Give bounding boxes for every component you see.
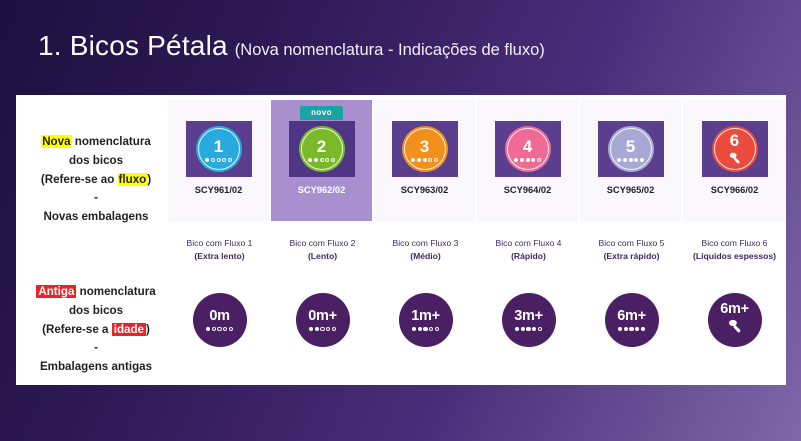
age-label: 6m+ <box>617 309 646 324</box>
product-card-1[interactable]: 1SCY961/02 <box>168 100 271 221</box>
dot-filled <box>618 327 622 331</box>
age-label: 0m+ <box>308 309 337 324</box>
dot-filled <box>629 327 633 331</box>
old-label-line2: dos bicos <box>69 304 123 317</box>
dot-filled <box>531 158 535 162</box>
dot-filled <box>635 327 639 331</box>
flow-description-1: Bico com Fluxo 1(Extra lento) <box>168 237 271 273</box>
flow-desc-line2: (Extra lento) <box>170 250 269 263</box>
flow-desc-line1: Bico com Fluxo 5 <box>599 238 665 248</box>
dot-empty <box>229 327 233 331</box>
dot-filled <box>417 158 421 162</box>
product-sku: SCY965/02 <box>607 185 655 195</box>
old-label-highlight-antiga: Antiga <box>36 285 76 298</box>
dot-empty <box>223 327 227 331</box>
flow-descriptions-row: Bico com Fluxo 1(Extra lento)Bico com Fl… <box>168 237 786 273</box>
dot-empty <box>428 158 432 162</box>
title-subtitle: (Nova nomenclatura - Indicações de fluxo… <box>235 41 545 60</box>
age-badge-cell-4: 3m+ <box>477 293 580 363</box>
flow-number: 1 <box>214 138 223 155</box>
dot-empty <box>325 158 329 162</box>
age-badge-cell-6: 6m+ <box>683 293 786 363</box>
age-1-dots <box>206 327 233 331</box>
product-cards-row: 1SCY961/02novo2SCY962/023SCY963/024SCY96… <box>168 100 786 221</box>
flow-desc-line2: (Médio) <box>376 250 475 263</box>
flow-2-dots <box>308 158 334 162</box>
age-2-dots <box>309 327 336 331</box>
dot-filled <box>514 158 518 162</box>
age-badge-6[interactable]: 6m+ <box>708 293 762 347</box>
spoon-icon <box>728 151 741 169</box>
new-label-highlight-nova: Nova <box>41 135 71 148</box>
dot-filled <box>309 327 313 331</box>
new-label-dash: - <box>94 191 98 204</box>
content-panel: Nova nomenclatura dos bicos (Refere-se a… <box>16 95 786 385</box>
new-label-highlight-fluxo: fluxo <box>118 173 148 186</box>
age-badges-row: 0m0m+1m+3m+6m+6m+ <box>168 293 786 363</box>
novo-badge: novo <box>300 106 343 120</box>
product-card-3[interactable]: 3SCY963/02 <box>374 100 477 221</box>
flow-desc-line2: (Extra rápido) <box>582 250 681 263</box>
flow-description-6: Bico com Fluxo 6(Líquidos espessos) <box>683 237 786 273</box>
dot-empty <box>212 327 216 331</box>
age-label: 0m <box>209 309 229 324</box>
flow-number: 4 <box>523 138 532 155</box>
dot-filled <box>526 327 530 331</box>
flow-desc-line2: (Líquidos espessos) <box>685 250 784 263</box>
dot-empty <box>537 158 541 162</box>
dot-filled <box>423 158 427 162</box>
product-sku: SCY966/02 <box>711 185 759 195</box>
spoon-icon <box>727 318 742 338</box>
dot-filled <box>640 158 644 162</box>
flow-number: 2 <box>317 138 326 155</box>
dot-filled <box>629 158 633 162</box>
dot-filled <box>623 158 627 162</box>
flow-desc-line1: Bico com Fluxo 6 <box>702 238 768 248</box>
dot-empty <box>435 327 439 331</box>
age-badge-4[interactable]: 3m+ <box>502 293 556 347</box>
flow-desc-line1: Bico com Fluxo 2 <box>290 238 356 248</box>
new-nomenclature-label: Nova nomenclatura dos bicos (Refere-se a… <box>20 133 172 227</box>
dot-filled <box>624 327 628 331</box>
age-badge-cell-5: 6m+ <box>580 293 683 363</box>
flow-desc-line1: Bico com Fluxo 4 <box>496 238 562 248</box>
new-label-line3-post: ) <box>147 173 151 186</box>
flow-3-dots <box>411 158 437 162</box>
dot-empty <box>217 327 221 331</box>
flow-number: 5 <box>626 138 635 155</box>
product-sku: SCY964/02 <box>504 185 552 195</box>
age-label: 3m+ <box>514 309 543 324</box>
age-badge-cell-2: 0m+ <box>271 293 374 363</box>
flow-number: 6 <box>730 132 739 149</box>
dot-empty <box>326 327 330 331</box>
dot-filled <box>526 158 530 162</box>
age-label: 6m+ <box>720 302 749 317</box>
dot-empty <box>332 327 336 331</box>
flow-description-3: Bico com Fluxo 3(Médio) <box>374 237 477 273</box>
flow-circle-6: 6 <box>712 126 758 172</box>
flow-4-dots <box>514 158 540 162</box>
dot-empty <box>320 327 324 331</box>
product-tile: 6 <box>702 121 768 177</box>
dot-filled <box>641 327 645 331</box>
label-column: Nova nomenclatura dos bicos (Refere-se a… <box>16 95 176 385</box>
dot-filled <box>532 327 536 331</box>
product-tile: 2 <box>289 121 355 177</box>
age-3-dots <box>412 327 439 331</box>
product-card-5[interactable]: 5SCY965/02 <box>580 100 683 221</box>
dot-empty <box>331 158 335 162</box>
product-tile: 1 <box>186 121 252 177</box>
age-4-dots <box>515 327 542 331</box>
old-nomenclature-label: Antiga nomenclatura dos bicos (Refere-se… <box>20 283 172 377</box>
dot-empty <box>434 158 438 162</box>
flow-1-dots <box>205 158 231 162</box>
dot-filled <box>423 327 427 331</box>
flow-circle-5: 5 <box>608 126 654 172</box>
dot-empty <box>538 327 542 331</box>
age-badge-1[interactable]: 0m <box>193 293 247 347</box>
age-badge-cell-3: 1m+ <box>374 293 477 363</box>
flow-description-4: Bico com Fluxo 4(Rápido) <box>477 237 580 273</box>
dot-filled <box>418 327 422 331</box>
dot-empty <box>228 158 232 162</box>
flow-desc-line2: (Rápido) <box>479 250 578 263</box>
old-label-line3-post: ) <box>146 323 150 336</box>
product-sku: SCY963/02 <box>401 185 449 195</box>
dot-filled <box>411 158 415 162</box>
new-label-line1-rest: nomenclatura <box>72 135 151 148</box>
age-badge-2[interactable]: 0m+ <box>296 293 350 347</box>
flow-number: 3 <box>420 138 429 155</box>
old-label-line1-rest: nomenclatura <box>76 285 155 298</box>
product-tile: 4 <box>495 121 561 177</box>
dot-filled <box>206 327 210 331</box>
old-label-line3-pre: (Refere-se a <box>42 323 112 336</box>
age-badge-cell-1: 0m <box>168 293 271 363</box>
dot-filled <box>634 158 638 162</box>
old-label-dash: - <box>94 341 98 354</box>
flow-circle-1: 1 <box>196 126 242 172</box>
new-label-line5: Novas embalagens <box>43 210 148 223</box>
dot-filled <box>520 158 524 162</box>
dot-empty <box>222 158 226 162</box>
dot-filled <box>521 327 525 331</box>
dot-filled <box>308 158 312 162</box>
dot-filled <box>315 327 319 331</box>
flow-desc-line2: (Lento) <box>273 250 372 263</box>
flow-circle-2: 2 <box>299 126 345 172</box>
dot-filled <box>205 158 209 162</box>
dot-empty <box>320 158 324 162</box>
dot-filled <box>617 158 621 162</box>
product-sku: SCY961/02 <box>195 185 243 195</box>
product-sku: SCY962/02 <box>298 185 346 195</box>
new-label-line2: dos bicos <box>69 154 123 167</box>
flow-circle-3: 3 <box>402 126 448 172</box>
product-card-4[interactable]: 4SCY964/02 <box>477 100 580 221</box>
product-tile: 5 <box>598 121 664 177</box>
flow-desc-line1: Bico com Fluxo 1 <box>187 238 253 248</box>
flow-description-2: Bico com Fluxo 2(Lento) <box>271 237 374 273</box>
title-main: 1. Bicos Pétala <box>38 30 228 62</box>
old-label-line5: Embalagens antigas <box>40 360 152 373</box>
dot-filled <box>412 327 416 331</box>
dot-empty <box>211 158 215 162</box>
age-badge-5[interactable]: 6m+ <box>605 293 659 347</box>
flow-circle-4: 4 <box>505 126 551 172</box>
dot-filled <box>314 158 318 162</box>
age-5-dots <box>618 327 645 331</box>
flow-5-dots <box>617 158 643 162</box>
dot-empty <box>429 327 433 331</box>
new-label-line3-pre: (Refere-se ao <box>41 173 118 186</box>
age-label: 1m+ <box>411 309 440 324</box>
product-card-6[interactable]: 6SCY966/02 <box>683 100 786 221</box>
flow-description-5: Bico com Fluxo 5(Extra rápido) <box>580 237 683 273</box>
dot-empty <box>217 158 221 162</box>
age-badge-3[interactable]: 1m+ <box>399 293 453 347</box>
product-tile: 3 <box>392 121 458 177</box>
product-card-2[interactable]: novo2SCY962/02 <box>271 100 374 221</box>
flow-desc-line1: Bico com Fluxo 3 <box>393 238 459 248</box>
old-label-highlight-idade: idade <box>112 323 146 336</box>
dot-filled <box>515 327 519 331</box>
page-title: 1. Bicos Pétala (Nova nomenclatura - Ind… <box>38 30 545 62</box>
